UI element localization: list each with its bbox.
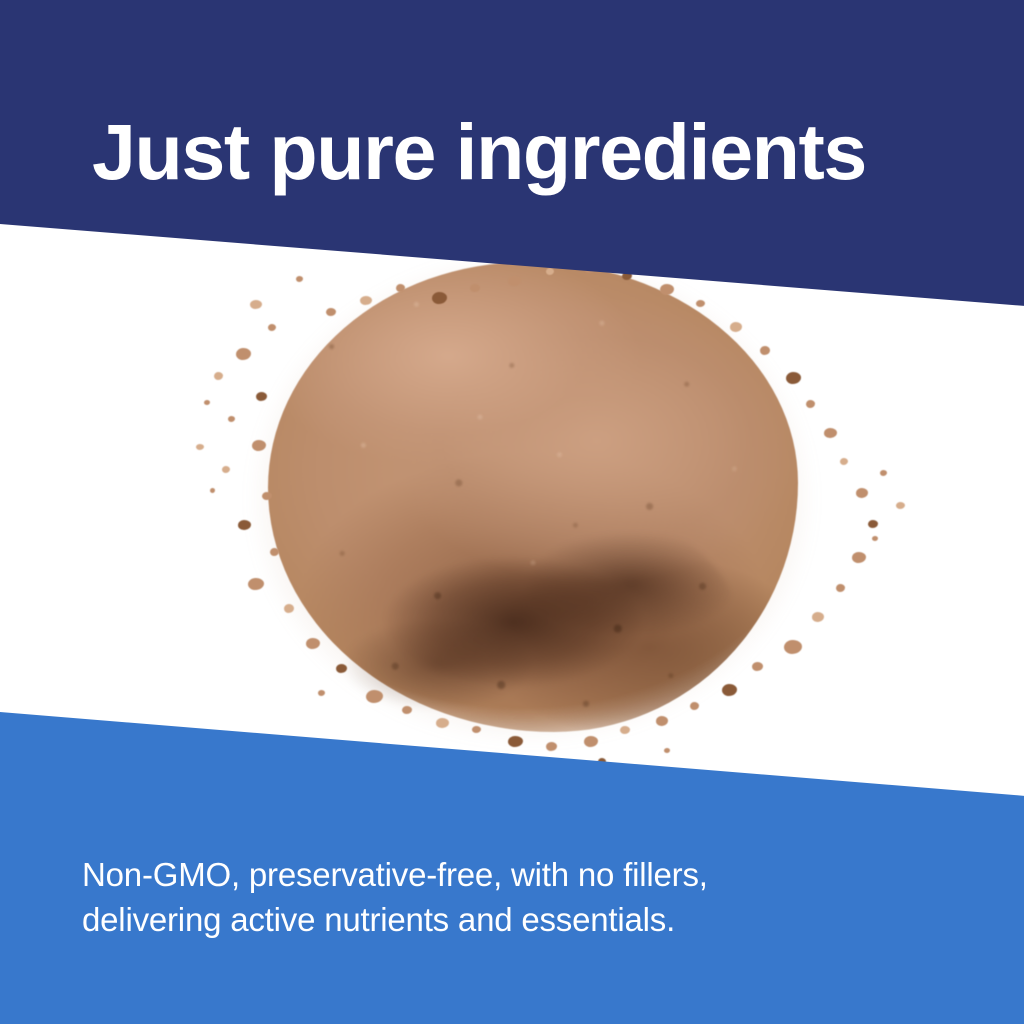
page-title: Just pure ingredients	[92, 111, 972, 193]
promo-canvas: Just pure ingredients Non-GMO, preservat…	[0, 0, 1024, 1024]
powder-speck	[204, 400, 210, 405]
powder-speck	[852, 552, 866, 563]
powder-speck	[880, 470, 887, 476]
subcopy-line-2: delivering active nutrients and essentia…	[82, 897, 942, 942]
powder-speck	[196, 444, 204, 450]
powder-speck	[664, 748, 670, 753]
powder-speck	[268, 324, 276, 331]
powder-speck	[784, 640, 802, 654]
powder-speck	[872, 536, 878, 541]
powder-speck	[296, 276, 303, 282]
powder-speck	[856, 488, 868, 498]
subcopy-line-1: Non-GMO, preservative-free, with no fill…	[82, 852, 942, 897]
subcopy: Non-GMO, preservative-free, with no fill…	[82, 852, 942, 942]
powder-speck	[210, 488, 215, 493]
powder-speck	[214, 372, 223, 380]
powder-speck	[896, 502, 905, 509]
powder-speck	[840, 458, 848, 465]
powder-speck	[250, 300, 262, 309]
powder-speck	[824, 428, 837, 438]
powder-speck	[812, 612, 824, 622]
powder-speck	[836, 584, 845, 592]
powder-speck	[236, 348, 251, 360]
powder-speck	[868, 520, 878, 528]
